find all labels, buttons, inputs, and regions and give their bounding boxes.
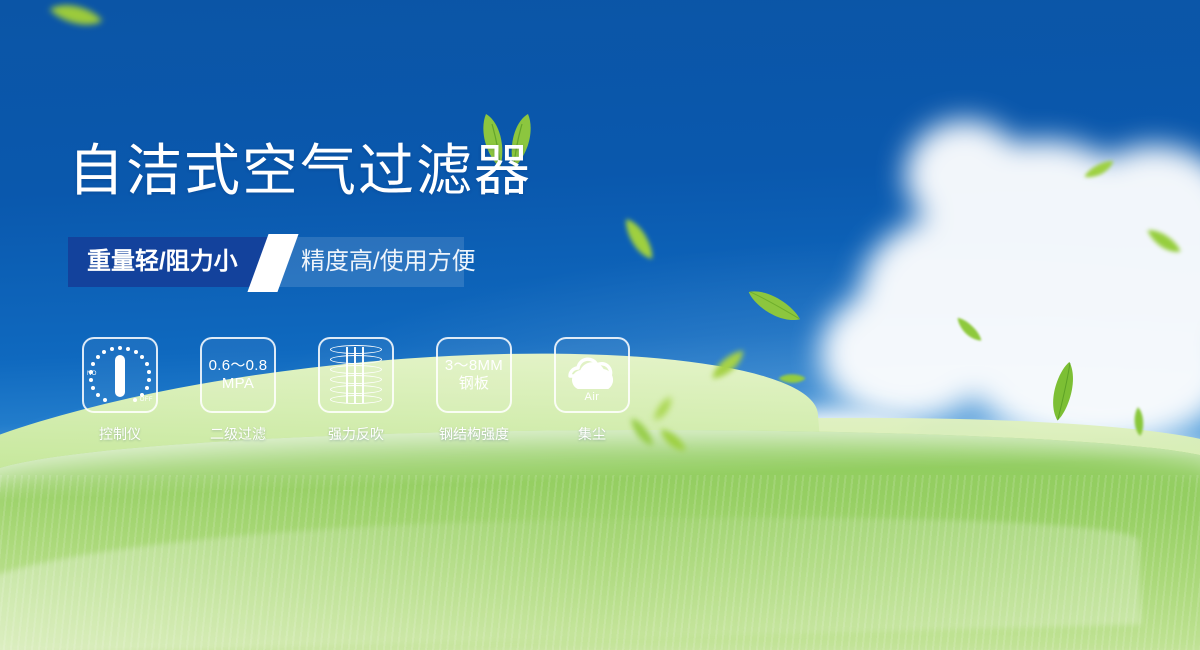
subtitle-banner: 重量轻/阻力小 精度高/使用方便	[68, 237, 464, 287]
coil-graphic	[330, 345, 382, 405]
hero-content: 自洁式空气过滤器 重量轻/阻力小 精度高/使用方便	[0, 0, 1200, 650]
feature-label: 控制仪	[99, 424, 141, 444]
cloud-graphic	[562, 345, 622, 397]
feature-item-control-dial[interactable]: NO OFF 控制仪	[78, 337, 162, 444]
pressure-line-1: 0.6～0.8	[209, 357, 268, 375]
steel-line-2: 钢板	[459, 375, 490, 393]
pressure-text-icon: 0.6～0.8 MPA	[200, 337, 276, 413]
pressure-line-2: MPA	[222, 375, 254, 393]
gauge-on-label: NO	[87, 371, 97, 377]
feature-item-dust-collection[interactable]: Air 集尘	[550, 337, 634, 444]
gauge-off-label: OFF	[140, 397, 153, 403]
feature-item-steel-plate[interactable]: 3～8MM 钢板 钢结构强度	[432, 337, 516, 444]
subtitle-left-text: 重量轻/阻力小	[87, 237, 238, 287]
feature-label: 强力反吹	[328, 424, 384, 444]
control-dial-icon: NO OFF	[82, 337, 158, 413]
gauge-needle	[115, 355, 125, 397]
page-title: 自洁式空气过滤器	[68, 143, 532, 199]
feature-label: 二级过滤	[210, 424, 266, 444]
coil-filter-icon	[318, 337, 394, 413]
feature-label: 集尘	[578, 424, 606, 444]
gauge-graphic: NO OFF	[88, 345, 152, 405]
feature-label: 钢结构强度	[439, 424, 509, 444]
hero-banner: 自洁式空气过滤器 重量轻/阻力小 精度高/使用方便	[0, 0, 1200, 650]
steel-line-1: 3～8MM	[445, 357, 503, 375]
air-cloud-icon: Air	[554, 337, 630, 413]
subtitle-right-text: 精度高/使用方便	[301, 237, 476, 287]
feature-item-pressure[interactable]: 0.6～0.8 MPA 二级过滤	[196, 337, 280, 444]
feature-list: NO OFF 控制仪 0.6～0.8 MPA 二级过滤	[78, 337, 634, 444]
steel-plate-text-icon: 3～8MM 钢板	[436, 337, 512, 413]
feature-item-backblow[interactable]: 强力反吹	[314, 337, 398, 444]
